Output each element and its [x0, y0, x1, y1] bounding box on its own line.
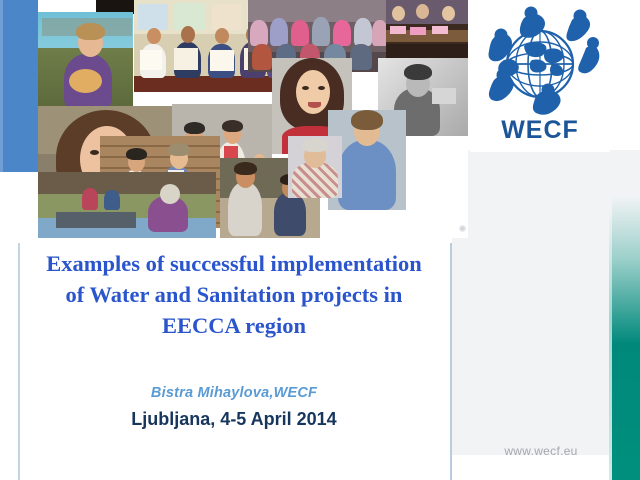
slide-title: Examples of successful implementation of…	[20, 248, 448, 341]
left-accent-bar	[3, 0, 38, 172]
footer-url: www.wecf.eu	[470, 444, 612, 458]
corner-marker-icon	[459, 225, 466, 232]
slide-title-line-2: of Water and Sanitation projects in	[20, 279, 448, 310]
slide-title-line-3: EECCA region	[20, 310, 448, 341]
slide-author: Bistra Mihaylova,WECF	[20, 385, 448, 401]
photo-collage	[38, 0, 468, 238]
right-vertical-rule	[450, 243, 452, 480]
photo-child-with-bread	[38, 12, 133, 107]
wecf-logo: WECF	[470, 0, 610, 152]
teal-accent-bar	[612, 196, 640, 480]
photo-elderly-woman-floral	[288, 136, 342, 198]
photo-woman-washing-outdoors	[38, 172, 216, 238]
wecf-wordmark: WECF	[470, 116, 610, 145]
presentation-slide: WECF Examples of successful implementati…	[0, 0, 640, 480]
slide-title-line-1: Examples of successful implementation	[20, 248, 448, 279]
wecf-globe-people-icon	[476, 2, 604, 122]
slide-place-date: Ljubljana, 4-5 April 2014	[20, 409, 448, 430]
